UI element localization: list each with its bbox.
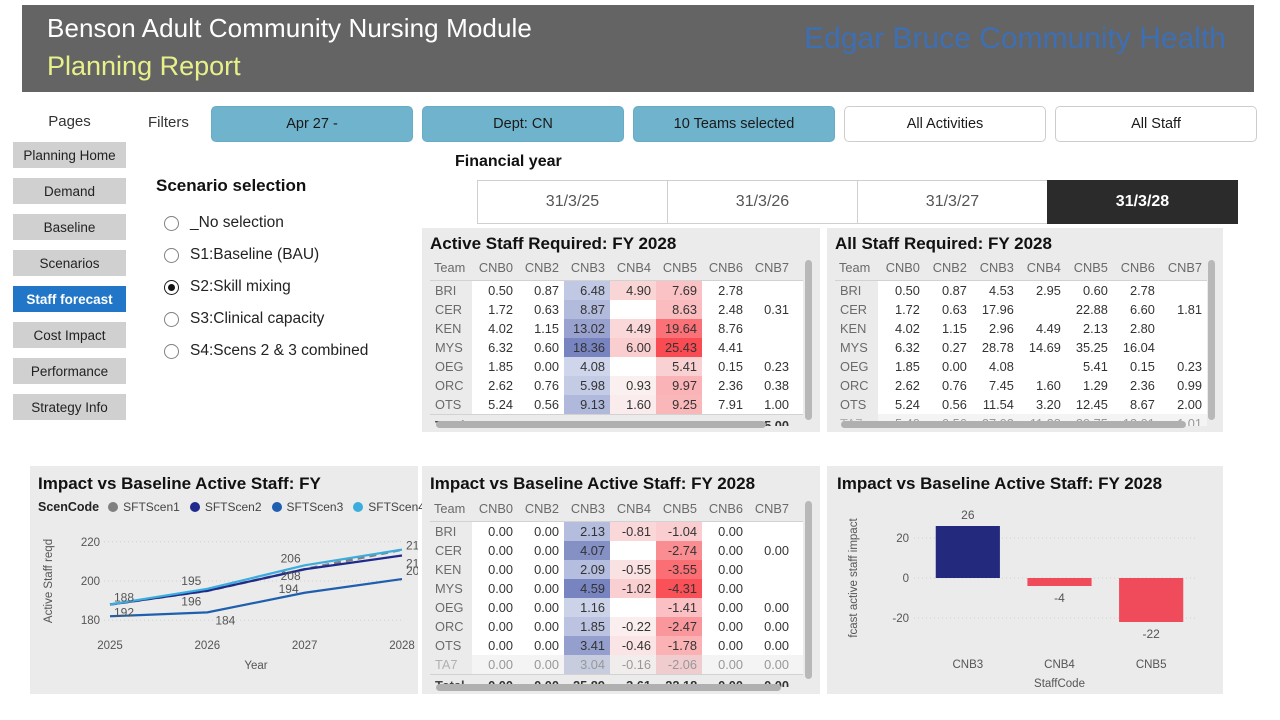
column-header-CNB4[interactable]: CNB4 <box>610 499 656 522</box>
table-cell: 0 <box>794 655 803 675</box>
legend-dot-icon <box>353 502 363 512</box>
table-cell: 1.81 <box>1160 300 1207 319</box>
active-staff-required-title: Active Staff Required: FY 2028 <box>430 234 676 254</box>
column-header-CNB0[interactable]: CNB0 <box>472 258 518 281</box>
table-row[interactable]: ORC2.620.765.980.939.972.360.38 <box>430 376 803 395</box>
svg-text:220: 220 <box>81 537 100 549</box>
column-header-Team[interactable]: Team <box>835 258 878 281</box>
svg-text:2028: 2028 <box>389 640 415 652</box>
table-cell: 1 <box>794 541 803 560</box>
column-header-To[interactable]: To <box>794 499 803 522</box>
svg-text:188: 188 <box>114 591 134 605</box>
table-cell <box>610 541 656 560</box>
table-cell: 2.48 <box>702 300 748 319</box>
table-cell: 1.72 <box>472 300 518 319</box>
legend-dot-icon <box>108 502 118 512</box>
table-cell: 14.69 <box>1019 338 1066 357</box>
table-cell: 4.02 <box>878 319 925 338</box>
table-row[interactable]: ORC0.000.001.85-0.22-2.470.000.00-0 <box>430 617 803 636</box>
table-cell <box>794 281 803 301</box>
table-cell: -3.55 <box>656 560 702 579</box>
impact-vs-baseline-table[interactable]: TeamCNB0CNB2CNB3CNB4CNB5CNB6CNB7ToBRI0.0… <box>430 499 803 687</box>
table-cell: 28.78 <box>972 338 1019 357</box>
active-staff-required-table[interactable]: TeamCNB0CNB2CNB3CNB4CNB5CNB6CNB7TBRI0.50… <box>430 258 803 426</box>
table-cell: 2.13 <box>564 522 610 542</box>
table-cell: -0.22 <box>610 617 656 636</box>
svg-text:192: 192 <box>114 605 134 619</box>
column-header-CNB0[interactable]: CNB0 <box>878 258 925 281</box>
table-cell: 4.08 <box>972 357 1019 376</box>
svg-text:180: 180 <box>81 615 100 627</box>
table-cell: 0.00 <box>518 357 564 376</box>
table-cell: 8.76 <box>702 319 748 338</box>
legend-label: SFTScen2 <box>205 500 262 514</box>
horizontal-scrollbar[interactable] <box>841 421 1186 428</box>
svg-text:195: 195 <box>181 574 201 588</box>
table-row[interactable]: KEN4.021.1513.024.4919.648.76 <box>430 319 803 338</box>
scenario-option-2[interactable]: S2:Skill mixing <box>156 271 406 303</box>
table-cell: 6.48 <box>564 281 610 301</box>
table-cell: -1.04 <box>656 522 702 542</box>
table-cell: 0.00 <box>518 541 564 560</box>
table-row[interactable]: OEG1.850.004.085.410.150.23 <box>430 357 803 376</box>
row-header: OEG <box>430 357 472 376</box>
table-cell: 0.00 <box>702 617 748 636</box>
scenario-option-4[interactable]: S4:Scens 2 & 3 combined <box>156 335 406 367</box>
filter-bar: Apr 27 -Dept: CN10 Teams selectedAll Act… <box>211 106 1257 142</box>
column-header-Team[interactable]: Team <box>430 499 472 522</box>
table-cell: 0.00 <box>472 522 518 542</box>
table-cell: 9.13 <box>564 395 610 415</box>
table-cell: 0.15 <box>1113 357 1160 376</box>
table-cell <box>794 357 803 376</box>
row-header: KEN <box>835 319 878 338</box>
table-cell: 1.72 <box>878 300 925 319</box>
row-header: ORC <box>430 617 472 636</box>
table-cell: 0.00 <box>518 617 564 636</box>
column-header-CNB2[interactable]: CNB2 <box>518 499 564 522</box>
table-cell: -2 <box>794 560 803 579</box>
column-header-CNB5[interactable]: CNB5 <box>1066 258 1113 281</box>
table-cell <box>1160 338 1207 357</box>
table-cell: -2.06 <box>656 655 702 675</box>
impact-line-chart-panel: Impact vs Baseline Active Staff: FY Scen… <box>30 466 418 694</box>
table-cell: 0.00 <box>518 522 564 542</box>
table-cell: 1.00 <box>748 395 794 415</box>
table-cell: -0.55 <box>610 560 656 579</box>
table-cell: 0.00 <box>472 560 518 579</box>
table-cell: 0.00 <box>748 598 794 617</box>
table-cell: 13.02 <box>564 319 610 338</box>
row-header: OEG <box>430 598 472 617</box>
horizontal-scrollbar[interactable] <box>436 421 766 428</box>
table-cell: 9.97 <box>656 376 702 395</box>
radio-button-icon[interactable] <box>164 312 179 327</box>
all-staff-required-panel: All Staff Required: FY 2028 TeamCNB0CNB2… <box>827 228 1223 432</box>
scenario-option-3[interactable]: S3:Clinical capacity <box>156 303 406 335</box>
sidebar-item-demand[interactable]: Demand <box>13 178 126 204</box>
legend-item-SFTScen3[interactable]: SFTScen3 <box>272 500 344 514</box>
sidebar-item-performance[interactable]: Performance <box>13 358 126 384</box>
table-cell: 2.80 <box>1113 319 1160 338</box>
table-cell: 5.41 <box>656 357 702 376</box>
table-row[interactable]: CER1.720.638.878.632.480.31 <box>430 300 803 319</box>
table-cell: 6.32 <box>878 338 925 357</box>
table-cell: 7.69 <box>656 281 702 301</box>
row-header: MYS <box>430 579 472 598</box>
financial-year-option-31-3-26[interactable]: 31/3/26 <box>667 180 858 224</box>
active-staff-required-panel: Active Staff Required: FY 2028 TeamCNB0C… <box>422 228 820 432</box>
table-row[interactable]: CER0.000.004.07-2.740.000.001 <box>430 541 803 560</box>
table-cell: 0.00 <box>702 636 748 655</box>
table-cell: -2.74 <box>656 541 702 560</box>
pages-nav: Planning HomeDemandBaselineScenariosStaf… <box>13 142 126 430</box>
table-cell: 0.00 <box>925 357 972 376</box>
column-header-CNB2[interactable]: CNB2 <box>518 258 564 281</box>
table-cell: -0 <box>794 598 803 617</box>
table-cell: 0.00 <box>702 541 748 560</box>
table-cell: 4.08 <box>564 357 610 376</box>
table-cell: 0.38 <box>748 376 794 395</box>
table-cell: 8.63 <box>656 300 702 319</box>
svg-text:2026: 2026 <box>195 640 221 652</box>
table-cell <box>1160 319 1207 338</box>
row-header: KEN <box>430 560 472 579</box>
table-cell: 3.04 <box>564 655 610 675</box>
table-cell: -0 <box>794 617 803 636</box>
row-header: CER <box>430 541 472 560</box>
table-cell: 25.43 <box>656 338 702 357</box>
table-row[interactable]: KEN0.000.002.09-0.55-3.550.00-2 <box>430 560 803 579</box>
legend-dot-icon <box>190 502 200 512</box>
svg-text:201: 201 <box>406 564 418 578</box>
table-cell: 3.20 <box>1019 395 1066 414</box>
table-cell: 4.49 <box>1019 319 1066 338</box>
svg-text:200: 200 <box>81 576 100 588</box>
table-cell: 8.67 <box>1113 395 1160 414</box>
table-row[interactable]: KEN4.021.152.964.492.132.80 <box>835 319 1207 338</box>
table-row[interactable]: ORC2.620.767.451.601.292.360.99 <box>835 376 1207 395</box>
table-cell <box>748 579 794 598</box>
table-cell: 4.02 <box>472 319 518 338</box>
table-cell: 0.60 <box>518 338 564 357</box>
column-header-T[interactable]: T <box>794 258 803 281</box>
impact-table-title: Impact vs Baseline Active Staff: FY 2028 <box>430 474 755 494</box>
vertical-scrollbar[interactable] <box>805 501 812 679</box>
legend-item-SFTScen4[interactable]: SFTScen4 <box>353 500 425 514</box>
column-header-CNB7[interactable]: CNB7 <box>748 499 794 522</box>
table-cell: 0.00 <box>702 579 748 598</box>
table-cell: 2.00 <box>1160 395 1207 414</box>
table-cell: 0 <box>794 522 803 542</box>
table-cell <box>794 395 803 415</box>
filter-button-4[interactable]: All Staff <box>1055 106 1257 142</box>
impact-bar-chart-panel: Impact vs Baseline Active Staff: FY 2028… <box>827 466 1223 694</box>
row-header: MYS <box>430 338 472 357</box>
table-cell: 1.29 <box>1066 376 1113 395</box>
table-row[interactable]: OTS5.240.569.131.609.257.911.00 <box>430 395 803 415</box>
table-cell: 5.41 <box>1066 357 1113 376</box>
legend-label: SFTScen3 <box>287 500 344 514</box>
table-cell: 17.96 <box>972 300 1019 319</box>
row-header: OTS <box>430 395 472 415</box>
sidebar-item-scenarios[interactable]: Scenarios <box>13 250 126 276</box>
app-header: Benson Adult Community Nursing Module Pl… <box>22 5 1254 92</box>
svg-text:20: 20 <box>896 533 909 545</box>
row-header: OTS <box>430 636 472 655</box>
column-header-CNB3[interactable]: CNB3 <box>564 258 610 281</box>
row-header: TA7 <box>430 655 472 675</box>
table-cell: 0.00 <box>702 655 748 675</box>
table-cell: 1.60 <box>610 395 656 415</box>
filter-button-0[interactable]: Apr 27 - <box>211 106 413 142</box>
table-cell: 0.31 <box>748 300 794 319</box>
table-cell: 2.62 <box>472 376 518 395</box>
impact-line-chart-svg[interactable]: 1802002202025202620272028YearActive Staf… <box>30 518 418 690</box>
radio-button-icon[interactable] <box>164 216 179 231</box>
table-cell: 1.15 <box>518 319 564 338</box>
table-cell: 1.15 <box>925 319 972 338</box>
table-cell: -0 <box>794 579 803 598</box>
all-staff-required-table[interactable]: TeamCNB0CNB2CNB3CNB4CNB5CNB6CNB7BRI0.500… <box>835 258 1207 426</box>
row-header: BRI <box>430 522 472 542</box>
table-cell: 1.85 <box>472 357 518 376</box>
financial-year-option-31-3-27[interactable]: 31/3/27 <box>857 180 1048 224</box>
column-header-CNB7[interactable]: CNB7 <box>748 258 794 281</box>
table-cell: -1.78 <box>656 636 702 655</box>
table-cell: 2.62 <box>878 376 925 395</box>
table-cell: 0.00 <box>518 579 564 598</box>
organisation-name: Edgar Bruce Community Health <box>804 22 1226 56</box>
radio-button-icon[interactable] <box>164 280 179 295</box>
table-cell: 16.04 <box>1113 338 1160 357</box>
column-header-CNB3[interactable]: CNB3 <box>972 258 1019 281</box>
column-header-CNB6[interactable]: CNB6 <box>702 258 748 281</box>
table-cell: 0.00 <box>518 655 564 675</box>
table-cell: 2.96 <box>972 319 1019 338</box>
column-header-Team[interactable]: Team <box>430 258 472 281</box>
svg-text:-4: -4 <box>1054 591 1065 605</box>
table-cell: 0.00 <box>518 560 564 579</box>
table-cell <box>794 376 803 395</box>
pages-label: Pages <box>12 113 127 130</box>
column-header-CNB6[interactable]: CNB6 <box>702 499 748 522</box>
report-subtitle: Planning Report <box>47 51 241 82</box>
table-cell: 1.85 <box>878 357 925 376</box>
table-cell: -0.16 <box>610 655 656 675</box>
column-header-CNB6[interactable]: CNB6 <box>1113 258 1160 281</box>
row-header: CER <box>430 300 472 319</box>
table-cell <box>610 598 656 617</box>
radio-button-icon[interactable] <box>164 248 179 263</box>
radio-button-icon[interactable] <box>164 344 179 359</box>
column-header-CNB7[interactable]: CNB7 <box>1160 258 1207 281</box>
filters-label: Filters <box>148 114 189 131</box>
table-row[interactable]: OTS5.240.5611.543.2012.458.672.00 <box>835 395 1207 414</box>
table-cell: 0.00 <box>518 598 564 617</box>
scenario-option-label: S3:Clinical capacity <box>190 310 324 328</box>
table-cell: 2.95 <box>1019 281 1066 301</box>
svg-text:-20: -20 <box>892 613 909 625</box>
table-row[interactable]: TA70.000.003.04-0.16-2.060.000.000 <box>430 655 803 675</box>
filter-button-3[interactable]: All Activities <box>844 106 1046 142</box>
table-cell: 35.25 <box>1066 338 1113 357</box>
scenario-selection-title: Scenario selection <box>156 176 406 196</box>
financial-year-label: Financial year <box>455 153 562 171</box>
table-cell: 0.00 <box>702 598 748 617</box>
table-cell: -2.47 <box>656 617 702 636</box>
scenario-option-label: S4:Scens 2 & 3 combined <box>190 342 368 360</box>
scenario-option-1[interactable]: S1:Baseline (BAU) <box>156 239 406 271</box>
table-cell: 0.15 <box>702 357 748 376</box>
table-cell: 0.00 <box>472 636 518 655</box>
table-row[interactable]: BRI0.500.874.532.950.602.78 <box>835 281 1207 301</box>
table-cell: 0.00 <box>748 617 794 636</box>
table-cell: 6.00 <box>610 338 656 357</box>
table-cell <box>748 338 794 357</box>
table-cell: 0.50 <box>878 281 925 301</box>
table-cell: 0.00 <box>702 522 748 542</box>
table-cell: 0.00 <box>518 636 564 655</box>
table-cell: 4.53 <box>972 281 1019 301</box>
table-row[interactable]: OEG0.000.001.16-1.410.000.00-0 <box>430 598 803 617</box>
table-cell: 1.85 <box>564 617 610 636</box>
table-cell <box>1019 300 1066 319</box>
sidebar-item-cost-impact[interactable]: Cost Impact <box>13 322 126 348</box>
table-cell: 2.78 <box>1113 281 1160 301</box>
column-header-CNB5[interactable]: CNB5 <box>656 258 702 281</box>
table-cell: 0.63 <box>925 300 972 319</box>
svg-text:0: 0 <box>903 573 909 585</box>
svg-text:196: 196 <box>181 595 201 609</box>
legend-item-SFTScen2[interactable]: SFTScen2 <box>190 500 262 514</box>
table-cell: 0.27 <box>925 338 972 357</box>
column-header-CNB2[interactable]: CNB2 <box>925 258 972 281</box>
table-cell: 4.07 <box>564 541 610 560</box>
table-cell: 6.60 <box>1113 300 1160 319</box>
legend-title: ScenCode <box>38 500 99 514</box>
filter-button-1[interactable]: Dept: CN <box>422 106 624 142</box>
table-cell: 2.36 <box>702 376 748 395</box>
column-header-CNB5[interactable]: CNB5 <box>656 499 702 522</box>
table-cell: 0.00 <box>748 655 794 675</box>
table-cell: 0.00 <box>472 655 518 675</box>
table-row[interactable]: BRI0.000.002.13-0.81-1.040.000 <box>430 522 803 542</box>
table-row[interactable]: MYS6.320.2728.7814.6935.2516.04 <box>835 338 1207 357</box>
table-row[interactable]: OEG1.850.004.085.410.150.23 <box>835 357 1207 376</box>
table-cell: 4.90 <box>610 281 656 301</box>
table-cell: 12.45 <box>1066 395 1113 414</box>
table-cell <box>748 522 794 542</box>
horizontal-scrollbar[interactable] <box>436 684 781 691</box>
total-cell: 3 <box>794 415 803 427</box>
table-cell: 0.00 <box>472 617 518 636</box>
table-cell: 5.24 <box>878 395 925 414</box>
table-cell: 0.00 <box>748 541 794 560</box>
table-cell: 18.36 <box>564 338 610 357</box>
table-cell: 4.49 <box>610 319 656 338</box>
table-cell: 0.63 <box>518 300 564 319</box>
legend-item-SFTScen1[interactable]: SFTScen1 <box>108 500 180 514</box>
financial-year-option-31-3-28[interactable]: 31/3/28 <box>1047 180 1238 224</box>
table-cell <box>748 319 794 338</box>
legend-label: SFTScen4 <box>368 500 425 514</box>
table-cell: 0.23 <box>748 357 794 376</box>
row-header: CER <box>835 300 878 319</box>
table-cell: 1.60 <box>1019 376 1066 395</box>
vertical-scrollbar[interactable] <box>1208 260 1215 420</box>
table-cell: 2.36 <box>1113 376 1160 395</box>
table-cell: 0.87 <box>925 281 972 301</box>
svg-text:CNB5: CNB5 <box>1136 659 1167 671</box>
table-cell: 0.23 <box>1160 357 1207 376</box>
sidebar-item-planning-home[interactable]: Planning Home <box>13 142 126 168</box>
svg-text:StaffCode: StaffCode <box>1034 678 1085 690</box>
column-header-CNB0[interactable]: CNB0 <box>472 499 518 522</box>
table-row[interactable]: MYS6.320.6018.366.0025.434.41 <box>430 338 803 357</box>
table-cell: 2.09 <box>564 560 610 579</box>
table-cell: 7.91 <box>702 395 748 415</box>
vertical-scrollbar[interactable] <box>805 260 812 420</box>
table-cell: 0.00 <box>472 598 518 617</box>
table-cell: 11.54 <box>972 395 1019 414</box>
table-row[interactable]: BRI0.500.876.484.907.692.78 <box>430 281 803 301</box>
all-staff-required-title: All Staff Required: FY 2028 <box>835 234 1052 254</box>
table-cell <box>610 300 656 319</box>
table-cell: 0.50 <box>472 281 518 301</box>
impact-line-chart-title: Impact vs Baseline Active Staff: FY <box>38 474 321 494</box>
svg-text:206: 206 <box>281 551 301 565</box>
row-header: MYS <box>835 338 878 357</box>
table-cell: 0.93 <box>610 376 656 395</box>
impact-bar-chart-svg[interactable]: 200-2026CNB3-4CNB4-22CNB5StaffCodefcast … <box>827 498 1223 694</box>
table-row[interactable]: CER1.720.6317.9622.886.601.81 <box>835 300 1207 319</box>
table-row[interactable]: OTS0.000.003.41-0.46-1.780.000.001 <box>430 636 803 655</box>
line-chart-legend: ScenCode SFTScen1SFTScen2SFTScen3SFTScen… <box>38 500 425 514</box>
financial-year-option-31-3-25[interactable]: 31/3/25 <box>477 180 668 224</box>
column-header-CNB3[interactable]: CNB3 <box>564 499 610 522</box>
table-row[interactable]: MYS0.000.004.59-1.02-4.310.00-0 <box>430 579 803 598</box>
table-cell <box>1160 281 1207 301</box>
table-cell: 0.76 <box>925 376 972 395</box>
column-header-CNB4[interactable]: CNB4 <box>1019 258 1066 281</box>
table-cell: 0.00 <box>748 636 794 655</box>
table-cell: 0.00 <box>472 579 518 598</box>
table-cell: 3.41 <box>564 636 610 655</box>
table-cell: 19.64 <box>656 319 702 338</box>
filter-button-2[interactable]: 10 Teams selected <box>633 106 835 142</box>
sidebar-item-baseline[interactable]: Baseline <box>13 214 126 240</box>
row-header: BRI <box>430 281 472 301</box>
table-cell: 7.45 <box>972 376 1019 395</box>
impact-bar-chart-title: Impact vs Baseline Active Staff: FY 2028 <box>837 474 1162 494</box>
column-header-CNB4[interactable]: CNB4 <box>610 258 656 281</box>
row-header: OEG <box>835 357 878 376</box>
svg-text:2027: 2027 <box>292 640 318 652</box>
scenario-option-label: _No selection <box>190 214 284 232</box>
table-cell: 0.99 <box>1160 376 1207 395</box>
svg-text:fcast active staff impact: fcast active staff impact <box>848 518 860 638</box>
scenario-option-0[interactable]: _No selection <box>156 207 406 239</box>
sidebar-item-staff-forecast[interactable]: Staff forecast <box>13 286 126 312</box>
svg-text:Active Staff reqd: Active Staff reqd <box>43 539 55 623</box>
sidebar-item-strategy-info[interactable]: Strategy Info <box>13 394 126 420</box>
table-cell: 4.59 <box>564 579 610 598</box>
table-cell: 1.16 <box>564 598 610 617</box>
table-cell: -1.02 <box>610 579 656 598</box>
table-cell: 1 <box>794 636 803 655</box>
scenario-radio-group: _No selectionS1:Baseline (BAU)S2:Skill m… <box>156 207 406 367</box>
